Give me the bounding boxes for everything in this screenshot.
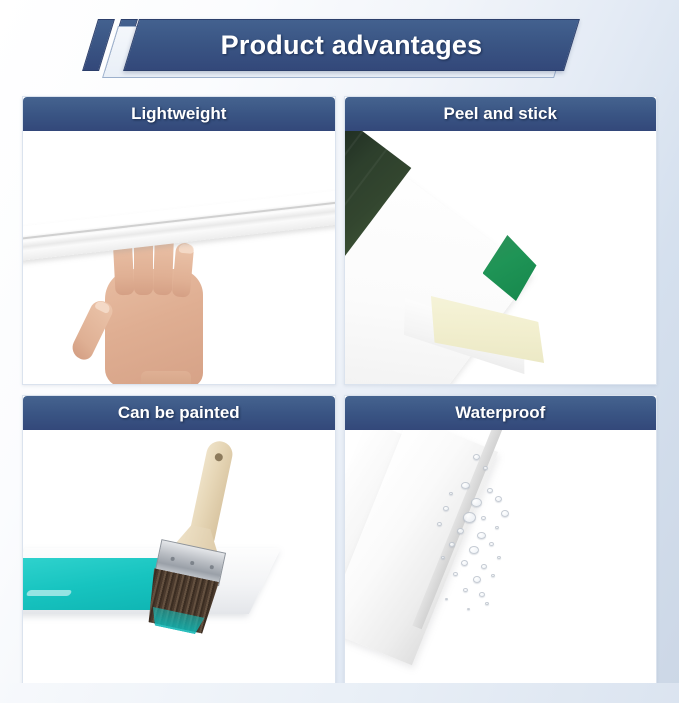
water-droplet <box>485 602 489 605</box>
panel-title-can-be-painted: Can be painted <box>23 396 335 430</box>
panel-title-peel-and-stick: Peel and stick <box>345 97 657 131</box>
water-droplet <box>481 564 487 569</box>
page-header-banner: Product advantages <box>0 14 679 86</box>
water-droplet <box>489 542 494 546</box>
water-droplet <box>443 506 449 511</box>
fingernail <box>179 244 195 254</box>
water-droplet <box>469 546 479 554</box>
water-droplet <box>495 496 502 502</box>
water-droplet <box>501 510 509 517</box>
wrist <box>141 371 191 384</box>
ferrule-rivet <box>190 561 195 566</box>
water-droplet <box>461 560 468 566</box>
ferrule-rivet <box>209 565 214 570</box>
water-droplet <box>479 592 485 597</box>
peel-film-adhesive-photo <box>345 131 657 384</box>
ferrule-rivet <box>170 556 175 561</box>
water-droplet <box>497 556 501 559</box>
water-droplet <box>467 608 470 610</box>
water-droplet <box>445 598 448 600</box>
peel-scene <box>345 131 657 384</box>
water-droplet <box>477 532 486 539</box>
water-droplet <box>461 482 470 489</box>
panel-title-waterproof: Waterproof <box>345 396 657 430</box>
waterproof-scene <box>345 430 657 683</box>
painting-scene <box>23 430 335 683</box>
page-title: Product advantages <box>131 19 572 71</box>
water-droplets-molding-photo <box>345 430 657 683</box>
paint-brush-turquoise-photo <box>23 430 335 683</box>
water-droplet <box>437 522 442 526</box>
water-droplet <box>491 574 495 577</box>
water-droplet <box>495 526 499 529</box>
water-droplet <box>481 516 486 520</box>
water-droplet <box>449 542 455 547</box>
water-droplet <box>473 576 481 583</box>
panel-can-be-painted: Can be painted <box>22 395 336 684</box>
paint-highlight <box>26 590 73 596</box>
water-droplet <box>463 588 468 592</box>
hand-holding-molding-photo <box>23 131 335 384</box>
water-droplet <box>463 512 476 523</box>
water-droplet <box>471 498 482 507</box>
panel-lightweight: Lightweight <box>22 96 336 385</box>
footer-strip <box>0 683 679 703</box>
water-droplet <box>449 492 453 495</box>
water-droplet <box>483 466 488 470</box>
water-droplet <box>473 454 480 460</box>
water-droplet <box>487 488 493 493</box>
water-droplet <box>441 556 445 559</box>
panel-waterproof: Waterproof <box>344 395 658 684</box>
advantages-grid: Lightweight Peel and stick <box>22 96 657 684</box>
panel-peel-and-stick: Peel and stick <box>344 96 658 385</box>
water-droplet <box>457 528 464 534</box>
water-droplet <box>453 572 458 576</box>
panel-title-lightweight: Lightweight <box>23 97 335 131</box>
